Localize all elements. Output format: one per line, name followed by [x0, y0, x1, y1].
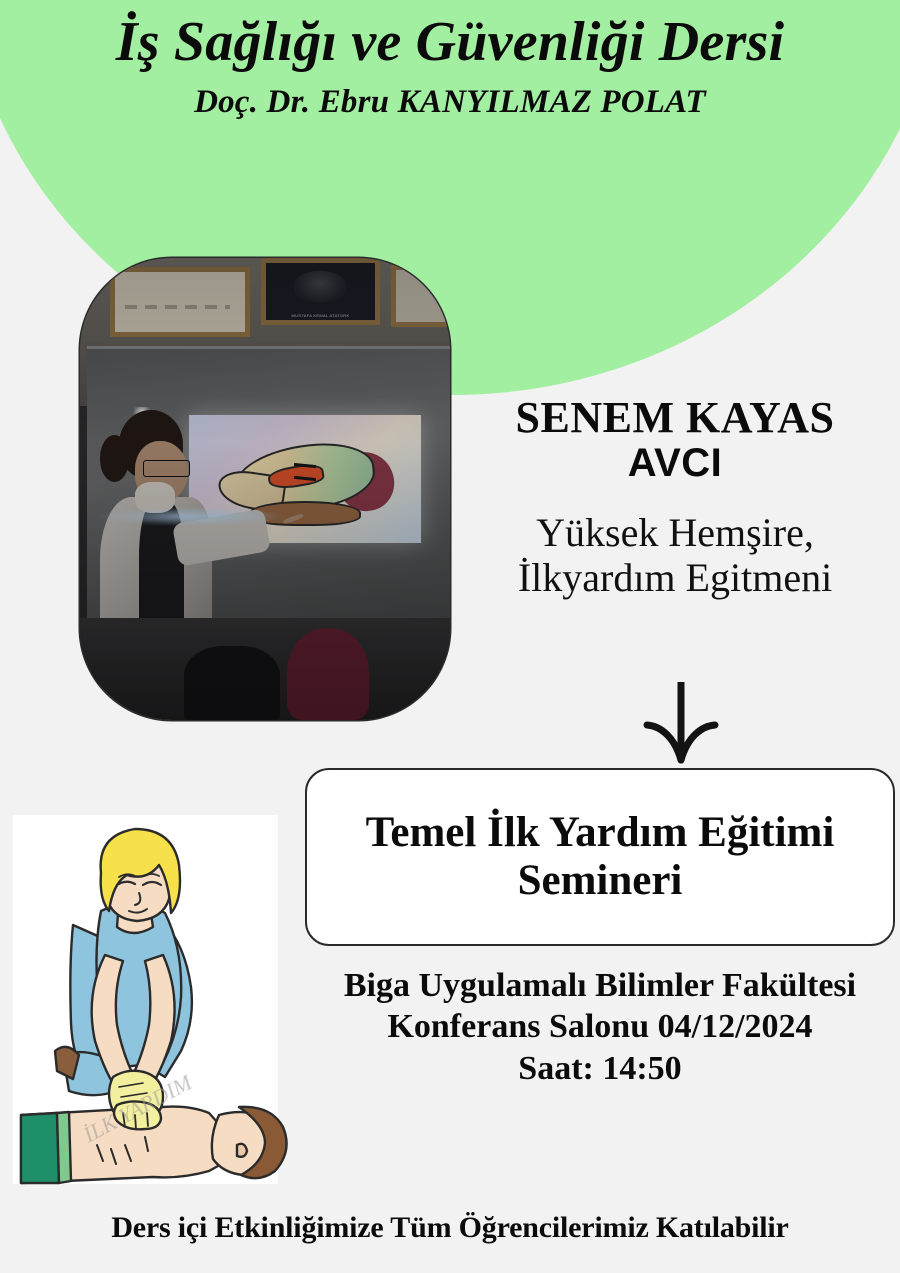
- speaker-name-line2: AVCI: [455, 441, 895, 485]
- event-venue-line1: Biga Uygulamalı Bilimler Fakültesi: [300, 965, 900, 1006]
- event-venue-line2: Konferans Salonu 04/12/2024: [300, 1006, 900, 1047]
- lecture-photo: MUSTAFA KEMAL ATATÜRK: [80, 258, 450, 720]
- seminar-title: Temel İlk Yardım Eğitimi Semineri: [348, 809, 853, 905]
- seminar-title-box: Temel İlk Yardım Eğitimi Semineri: [305, 768, 895, 946]
- speaker-block: SENEM KAYAS AVCI Yüksek Hemşire, İlkyard…: [455, 395, 895, 601]
- poster-canvas: İş Sağlığı ve Güvenliği Dersi Doç. Dr. E…: [0, 0, 900, 1273]
- speaker-name-line1: SENEM KAYAS: [455, 395, 895, 441]
- speaker-role: Yüksek Hemşire, İlkyardım Egitmeni: [455, 511, 895, 601]
- course-title: İş Sağlığı ve Güvenliği Dersi: [0, 14, 900, 71]
- event-details: Biga Uygulamalı Bilimler Fakültesi Konfe…: [300, 965, 900, 1089]
- speaker-role-line2: İlkyardım Egitmeni: [455, 556, 895, 601]
- header-block: İş Sağlığı ve Güvenliği Dersi Doç. Dr. E…: [0, 14, 900, 120]
- photo-shadow-overlay: [80, 258, 450, 720]
- down-arrow-icon: [636, 680, 726, 766]
- speaker-role-line1: Yüksek Hemşire,: [455, 511, 895, 556]
- footer-note: Ders içi Etkinliğimize Tüm Öğrencilerimi…: [0, 1211, 900, 1244]
- lecturer-name: Doç. Dr. Ebru KANYILMAZ POLAT: [0, 85, 900, 120]
- seminar-title-line2: Semineri: [366, 857, 835, 905]
- seminar-title-line1: Temel İlk Yardım Eğitimi: [366, 809, 835, 857]
- lecture-photo-content: MUSTAFA KEMAL ATATÜRK: [80, 258, 450, 720]
- cpr-illustration: İLK YARDIM: [13, 815, 278, 1184]
- event-time: Saat: 14:50: [300, 1048, 900, 1089]
